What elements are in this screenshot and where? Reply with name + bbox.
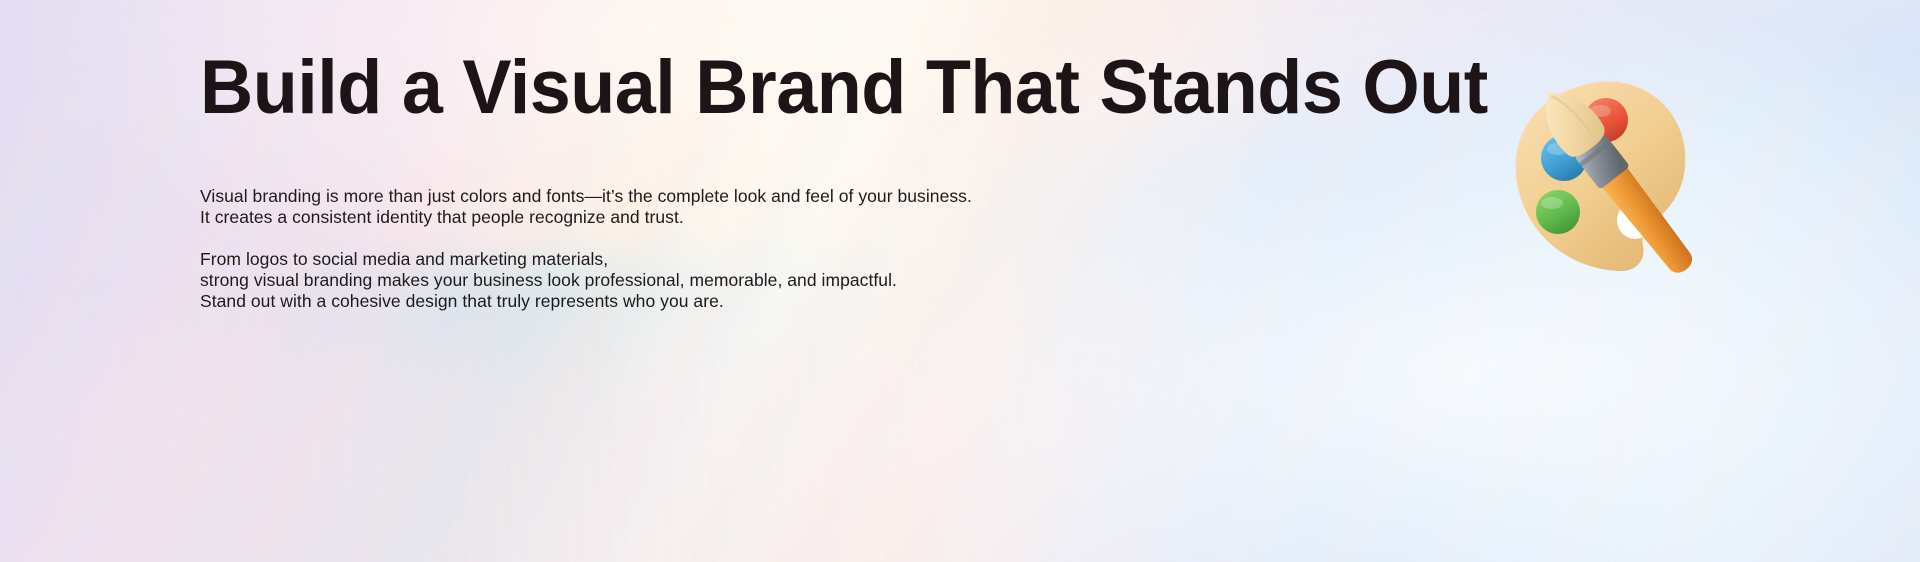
paragraph-1: Visual branding is more than just colors… [200,186,1200,228]
green-paint-dot [1536,190,1580,234]
artist-palette-icon [1495,58,1725,288]
paragraph-2: From logos to social media and marketing… [200,249,1200,312]
hero-description: Visual branding is more than just colors… [200,186,1200,312]
paragraph-2-line-3: Stand out with a cohesive design that tr… [200,291,1200,312]
page-title: Build a Visual Brand That Stands Out [200,48,1488,129]
visual-brand-hero-banner: Build a Visual Brand That Stands Out Vis… [0,0,1920,562]
paragraph-1-line-1: Visual branding is more than just colors… [200,186,1200,207]
hero-content: Build a Visual Brand That Stands Out Vis… [200,0,1450,562]
paragraph-spacer [200,228,1200,249]
paragraph-2-line-1: From logos to social media and marketing… [200,249,1200,270]
paragraph-2-line-2: strong visual branding makes your busine… [200,270,1200,291]
paragraph-1-line-2: It creates a consistent identity that pe… [200,207,1200,228]
